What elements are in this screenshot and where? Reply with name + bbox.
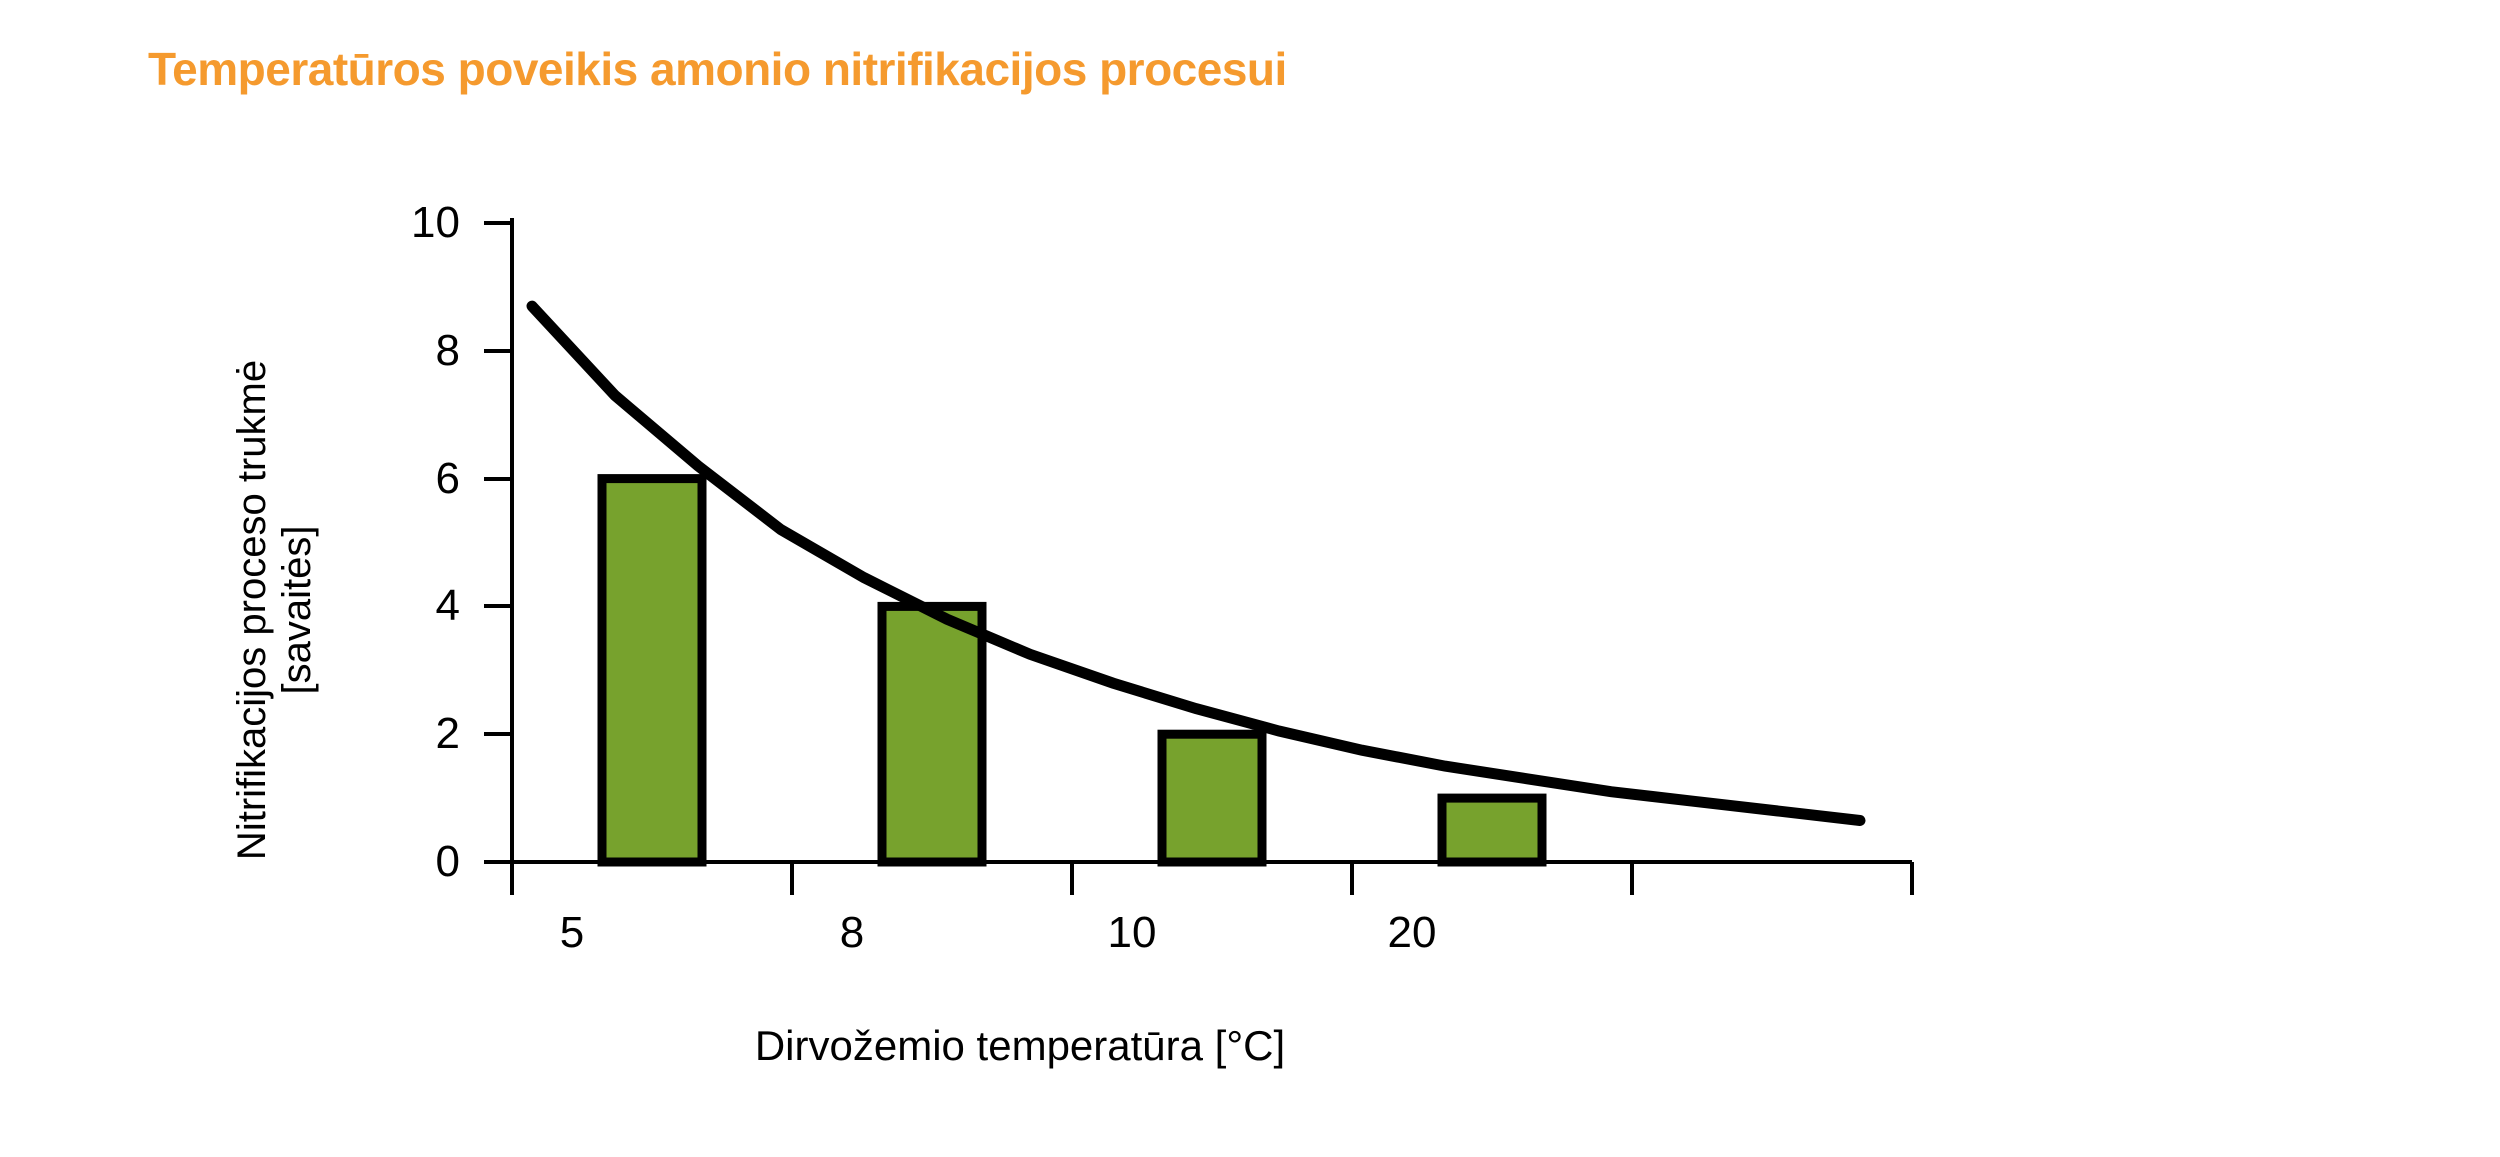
chart-figure: 10 8 6 4 2 0 5 8 10 20 Nitrifikacijos pr… (0, 0, 2500, 1157)
bar-8[interactable] (882, 606, 982, 862)
x-axis-ticks (512, 862, 1912, 895)
x-tick-label-5: 5 (492, 908, 652, 958)
y-axis-title-line2: [savaitės] (275, 360, 320, 860)
x-axis-title: Dirvožemio temperatūra [°C] (0, 1022, 2040, 1070)
x-tick-label-10: 10 (1052, 908, 1212, 958)
bar-10[interactable] (1162, 734, 1262, 862)
x-tick-label-20: 20 (1332, 908, 1492, 958)
y-axis-ticks (484, 223, 512, 862)
slide-canvas: Temperatūros poveikis amonio nitrifikaci… (0, 0, 2500, 1157)
chart-plot-area (0, 0, 2500, 1157)
y-axis-title-line1: Nitrifikacijos proceso trukmė (230, 360, 275, 860)
y-axis-title: Nitrifikacijos proceso trukmė [savaitės] (180, 260, 370, 960)
y-tick-label-10: 10 (350, 198, 460, 248)
x-tick-label-8: 8 (772, 908, 932, 958)
bar-5[interactable] (602, 479, 702, 862)
bar-20[interactable] (1442, 798, 1542, 862)
